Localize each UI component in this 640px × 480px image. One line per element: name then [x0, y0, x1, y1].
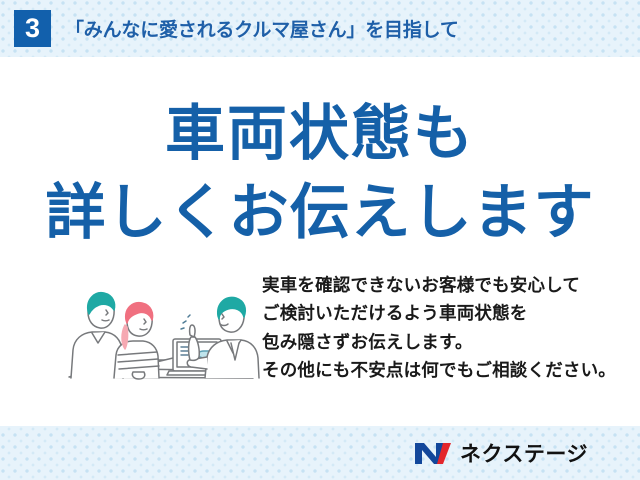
headline-line-1: 車両状態も [0, 99, 640, 170]
body-text: 実車を確認できないお客様でも安心して ご検討いただけるよう車両状態を 包み隠さず… [262, 271, 640, 384]
content-panel: 車両状態も 詳しくお伝えします [0, 57, 640, 426]
brand-logo: ネクステージ [413, 438, 588, 468]
body-text-line-3: 包み隠さずお伝えします。 [262, 328, 640, 356]
advertisement-banner: 3 「みんなに愛されるクルマ屋さん」を目指して 車両状態も 詳しくお伝えします [0, 0, 640, 480]
banner-header: 3 「みんなに愛されるクルマ屋さん」を目指して [0, 0, 640, 57]
brand-name: ネクステージ [460, 438, 588, 468]
headline: 車両状態も 詳しくお伝えします [0, 99, 640, 249]
consultation-illustration [55, 277, 260, 407]
header-title: 「みんなに愛されるクルマ屋さん」を目指して [65, 15, 459, 42]
body-text-line-2: ご検討いただけるよう車両状態を [262, 299, 640, 327]
consultation-illustration-svg [55, 277, 260, 402]
lower-content-row: 実車を確認できないお客様でも安心して ご検討いただけるよう車両状態を 包み隠さず… [0, 269, 640, 419]
body-text-line-4: その他にも不安点は何でもご相談ください。 [262, 356, 640, 384]
nextage-n-logo-icon [413, 440, 453, 466]
headline-line-2: 詳しくお伝えします [0, 178, 640, 249]
body-text-line-1: 実車を確認できないお客様でも安心して [262, 271, 640, 299]
banner-footer: ネクステージ [0, 426, 640, 480]
section-number-badge: 3 [14, 10, 51, 47]
